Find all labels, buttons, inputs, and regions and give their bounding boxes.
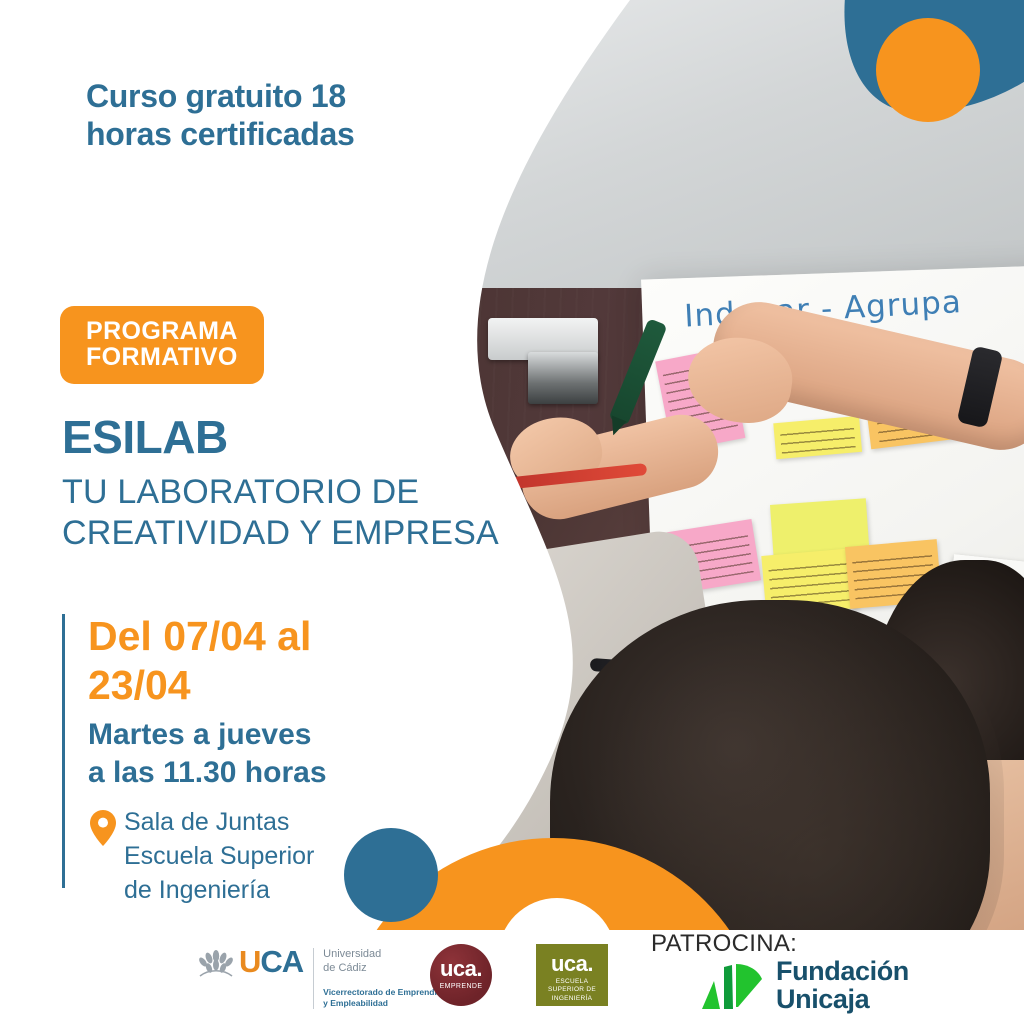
photo-ceiling bbox=[400, 0, 1024, 300]
photo-wall-socket bbox=[528, 352, 598, 404]
uca-wordmark-u: U bbox=[239, 944, 260, 979]
uca-esi-logo: uca. ESCUELA SUPERIOR DE INGENIERÍA bbox=[536, 944, 608, 1006]
badge-line-2: FORMATIVO bbox=[86, 344, 238, 370]
unicaja-line-2: Unicaja bbox=[776, 986, 909, 1014]
footer-logo-bar: UCA Universidad de Cádiz Vicerrectorado … bbox=[0, 930, 1024, 1024]
uca-university-logo: UCA Universidad de Cádiz Vicerrectorado … bbox=[196, 946, 465, 1009]
uca-emprende-logo: uca. EMPRENDE bbox=[430, 944, 492, 1006]
uca-esi-subtitle-3: INGENIERÍA bbox=[536, 995, 608, 1003]
workshop-photo: Indagar - Agrupa bbox=[400, 0, 1024, 930]
schedule-line-2: a las 11.30 horas bbox=[88, 754, 418, 792]
uca-logo-divider bbox=[313, 948, 314, 1009]
unicaja-fan-icon bbox=[700, 961, 766, 1011]
venue-line-1: Sala de Juntas bbox=[124, 806, 354, 840]
fundacion-unicaja-logo: Fundación Unicaja bbox=[700, 958, 909, 1013]
photo-scene: Indagar - Agrupa bbox=[400, 0, 1024, 930]
programa-formativo-badge: PROGRAMA FORMATIVO bbox=[60, 306, 264, 384]
uca-emprende-subtitle: EMPRENDE bbox=[430, 983, 492, 990]
program-tagline: TU LABORATORIO DE CREATIVIDAD Y EMPRESA bbox=[62, 472, 502, 554]
uca-wordmark: UCA bbox=[239, 946, 303, 977]
venue-address: Sala de Juntas Escuela Superior de Ingen… bbox=[124, 806, 354, 907]
uca-esi-wordmark: uca. bbox=[536, 953, 608, 975]
schedule-line-1: Martes a jueves bbox=[88, 716, 418, 754]
unicaja-line-1: Fundación bbox=[776, 958, 909, 986]
sponsor-label: PATROCINA: bbox=[651, 930, 797, 958]
uca-esi-subtitle-1: ESCUELA bbox=[536, 978, 608, 986]
uca-esi-subtitle-2: SUPERIOR DE bbox=[536, 986, 608, 994]
unicaja-wordmark: Fundación Unicaja bbox=[776, 958, 909, 1013]
uca-wordmark-ca: CA bbox=[260, 944, 303, 979]
photo-person-curly-hair bbox=[550, 600, 990, 930]
map-pin-icon bbox=[90, 810, 116, 846]
program-name: ESILAB bbox=[62, 410, 228, 464]
vertical-accent-rule bbox=[62, 614, 65, 888]
poster-canvas: Indagar - Agrupa bbox=[0, 0, 1024, 1024]
venue-line-2: Escuela Superior bbox=[124, 840, 354, 874]
wheat-ear-icon bbox=[196, 949, 236, 979]
headline: Curso gratuito 18 horas certificadas bbox=[86, 78, 416, 154]
program-dates: Del 07/04 al 23/04 bbox=[88, 612, 418, 710]
uca-emprende-wordmark: uca. bbox=[430, 958, 492, 980]
badge-line-1: PROGRAMA bbox=[86, 318, 238, 344]
program-schedule: Martes a jueves a las 11.30 horas bbox=[88, 716, 418, 791]
sticky-note bbox=[773, 416, 862, 459]
venue-line-3: de Ingeniería bbox=[124, 874, 354, 908]
